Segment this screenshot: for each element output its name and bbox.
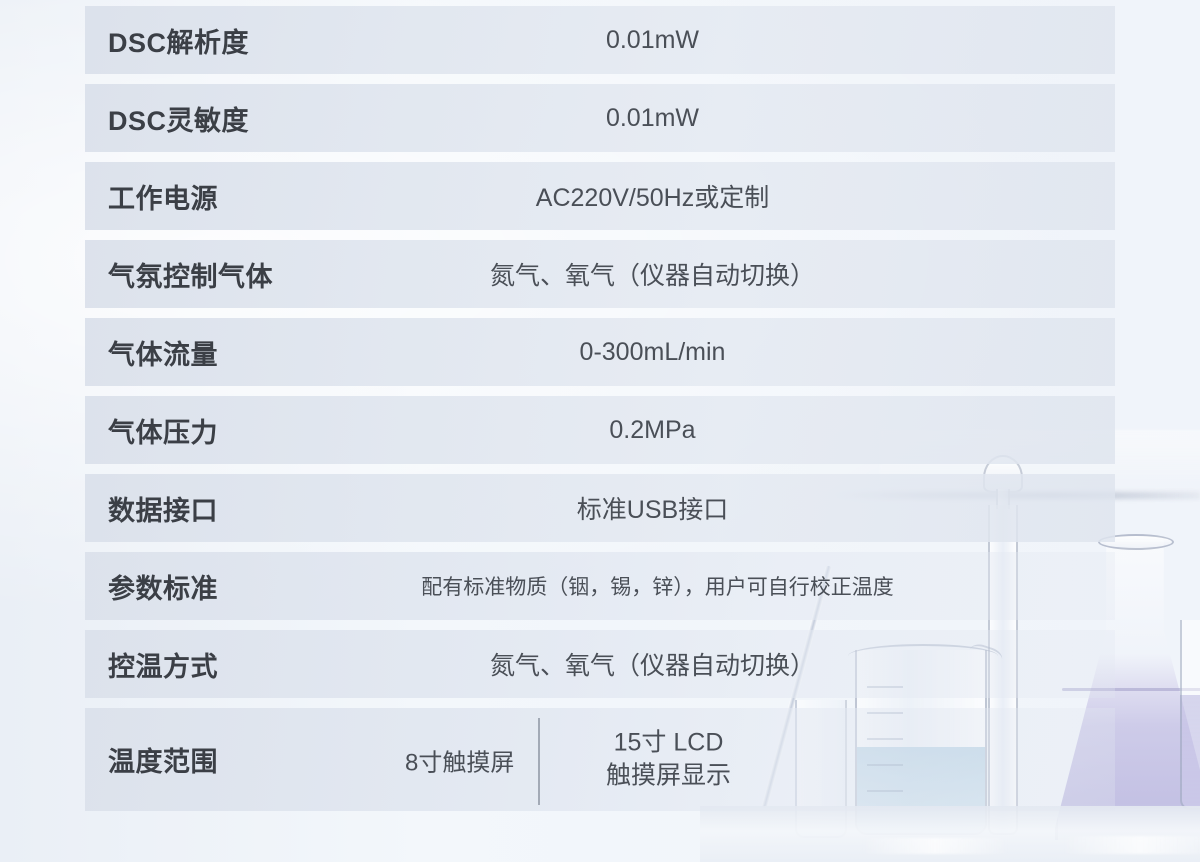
table-row: 工作电源 AC220V/50Hz或定制 <box>85 162 1115 230</box>
table-row: 参数标准 配有标准物质（铟，锡，锌），用户可自行校正温度 <box>85 552 1115 620</box>
row-value: 0.01mW <box>350 26 1115 55</box>
table-row: 数据接口 标准USB接口 <box>85 474 1115 542</box>
beaker-right-edge <box>1180 620 1200 810</box>
lcd-label-line2: 触摸屏显示 <box>606 760 731 794</box>
lcd-label-line1: 15寸 LCD <box>606 726 731 760</box>
last-row-content: 8寸触摸屏 15寸 LCD 触摸屏显示 8寸触摸屏 <box>350 708 1115 811</box>
table-row: 控温方式 氮气、氧气（仪器自动切换） <box>85 630 1115 698</box>
row-label: 温度范围 <box>85 740 350 779</box>
row-label: 气体压力 <box>85 411 350 450</box>
row-label: 控温方式 <box>85 645 350 684</box>
row-label: 气体流量 <box>85 333 350 372</box>
row-value: 0.01mW <box>350 104 1115 133</box>
row-label: 参数标准 <box>85 567 350 606</box>
table-row: DSC灵敏度 0.01mW <box>85 84 1115 152</box>
row-label: DSC灵敏度 <box>85 99 350 138</box>
row-value: AC220V/50Hz或定制 <box>350 178 1115 214</box>
row-value: 标准USB接口 <box>350 490 1115 526</box>
row-label: 工作电源 <box>85 177 350 216</box>
glass-reflection <box>1060 836 1200 854</box>
vertical-divider <box>538 718 540 805</box>
table-row: 气体压力 0.2MPa <box>85 396 1115 464</box>
row-value: 0.2MPa <box>350 416 1115 445</box>
row-value: 0-300mL/min <box>350 338 1115 367</box>
row-label: DSC解析度 <box>85 21 350 60</box>
row-value: 氮气、氧气（仪器自动切换） <box>350 256 1115 292</box>
table-row: DSC解析度 0.01mW <box>85 6 1115 74</box>
row-value: 配有标准物质（铟，锡，锌），用户可自行校正温度 <box>350 571 1115 601</box>
table-row-temperature-range: 温度范围 8寸触摸屏 15寸 LCD 触摸屏显示 8寸触摸屏 <box>85 708 1115 811</box>
touchscreen-left-label: 8寸触摸屏 <box>405 742 514 777</box>
lcd-display-label: 15寸 LCD 触摸屏显示 <box>606 726 731 794</box>
table-row: 气氛控制气体 氮气、氧气（仪器自动切换） <box>85 240 1115 308</box>
row-value: 氮气、氧气（仪器自动切换） <box>350 646 1115 682</box>
row-label: 气氛控制气体 <box>85 255 350 294</box>
specification-table: DSC解析度 0.01mW DSC灵敏度 0.01mW 工作电源 AC220V/… <box>85 6 1115 821</box>
table-row: 气体流量 0-300mL/min <box>85 318 1115 386</box>
row-label: 数据接口 <box>85 489 350 528</box>
glass-reflection <box>860 838 1010 854</box>
